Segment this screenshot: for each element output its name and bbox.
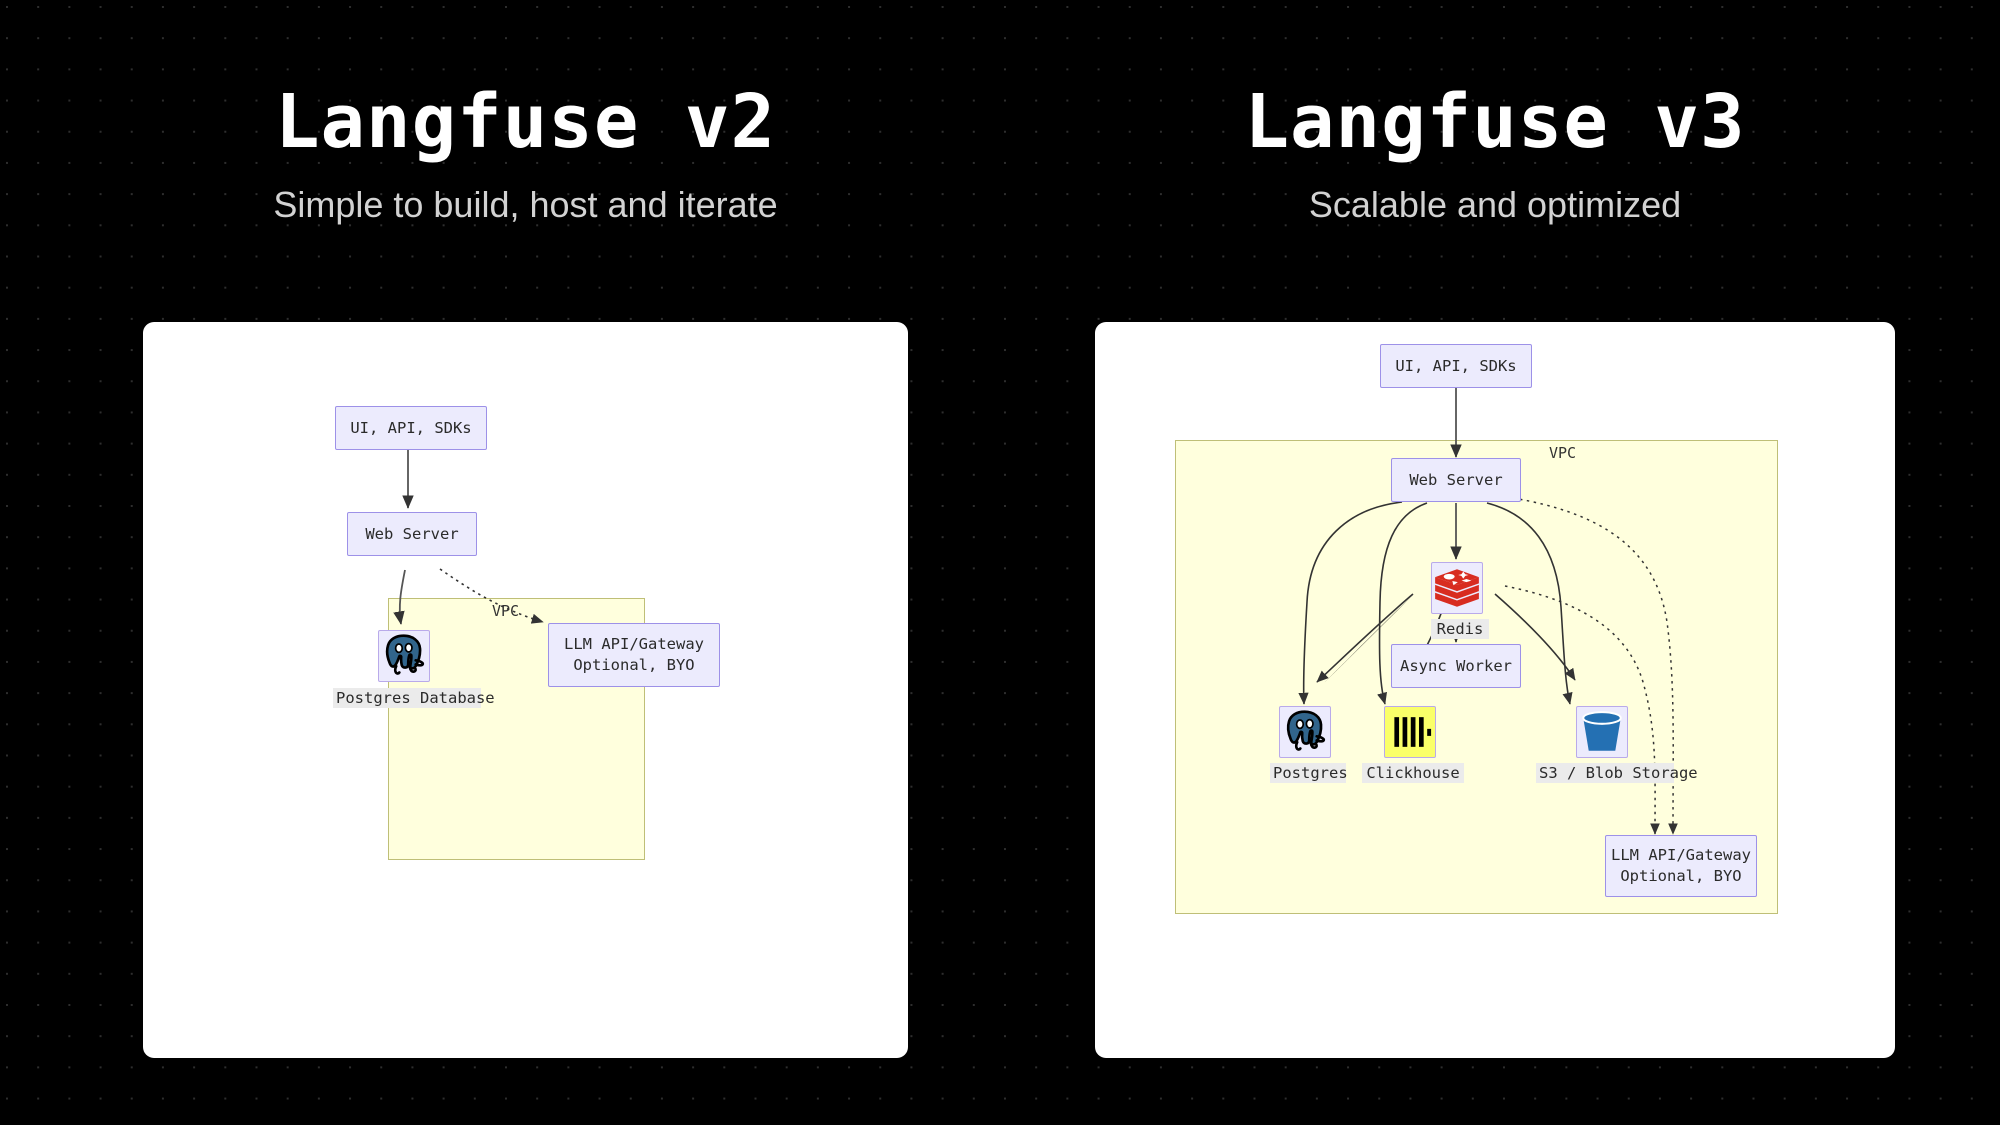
caption-clickhouse-v3: Clickhouse (1362, 763, 1464, 783)
node-llm-gateway-v2[interactable]: LLM API/Gateway Optional, BYO (548, 623, 720, 687)
node-async-worker-v3[interactable]: Async Worker (1391, 644, 1521, 688)
postgres-elephant-icon-v2 (378, 630, 430, 682)
caption-redis-v3: Redis (1431, 619, 1489, 639)
s3-bucket-icon-v3 (1576, 706, 1628, 758)
architecture-diagram-v3: VPC (1095, 322, 1895, 1058)
postgres-elephant-glyph (379, 631, 429, 681)
diagram-card-v2: VPC UI, API, SDKs (143, 322, 908, 1058)
caption-postgres-v3: Postgres (1270, 763, 1346, 783)
llm-gateway-line1-v3: LLM API/Gateway (1611, 845, 1751, 866)
node-client-v3[interactable]: UI, API, SDKs (1380, 344, 1532, 388)
clickhouse-icon-v3 (1384, 706, 1436, 758)
caption-postgres-v2: Postgres Database (333, 688, 481, 708)
postgres-elephant-glyph-v3 (1280, 707, 1330, 757)
architecture-diagram-v2: VPC UI, API, SDKs (143, 322, 908, 1058)
edge-layer-v2 (143, 322, 908, 1058)
node-client-v2[interactable]: UI, API, SDKs (335, 406, 487, 450)
redis-icon-v3 (1431, 562, 1483, 614)
edge-layer-v3 (1095, 322, 1895, 1058)
page-subtitle-v3: Scalable and optimized (1095, 187, 1895, 223)
caption-s3-v3: S3 / Blob Storage (1536, 763, 1674, 783)
clickhouse-logo-glyph (1385, 707, 1435, 757)
redis-logo-glyph (1432, 563, 1482, 613)
diagram-card-v3: VPC (1095, 322, 1895, 1058)
llm-gateway-line2-v2: Optional, BYO (573, 655, 694, 676)
page-title-v3: Langfuse v3 (1095, 85, 1895, 159)
llm-gateway-line2-v3: Optional, BYO (1620, 866, 1741, 887)
node-llm-gateway-v3[interactable]: LLM API/Gateway Optional, BYO (1605, 835, 1757, 897)
node-web-server-v2[interactable]: Web Server (347, 512, 477, 556)
page-background: Langfuse v2 Simple to build, host and it… (0, 0, 2000, 1125)
node-web-server-v3[interactable]: Web Server (1391, 458, 1521, 502)
column-header-v2: Langfuse v2 Simple to build, host and it… (143, 85, 908, 223)
llm-gateway-line1-v2: LLM API/Gateway (564, 634, 704, 655)
page-title-v2: Langfuse v2 (143, 85, 908, 159)
column-header-v3: Langfuse v3 Scalable and optimized (1095, 85, 1895, 223)
s3-bucket-glyph (1577, 707, 1627, 757)
page-subtitle-v2: Simple to build, host and iterate (143, 187, 908, 223)
postgres-elephant-icon-v3 (1279, 706, 1331, 758)
